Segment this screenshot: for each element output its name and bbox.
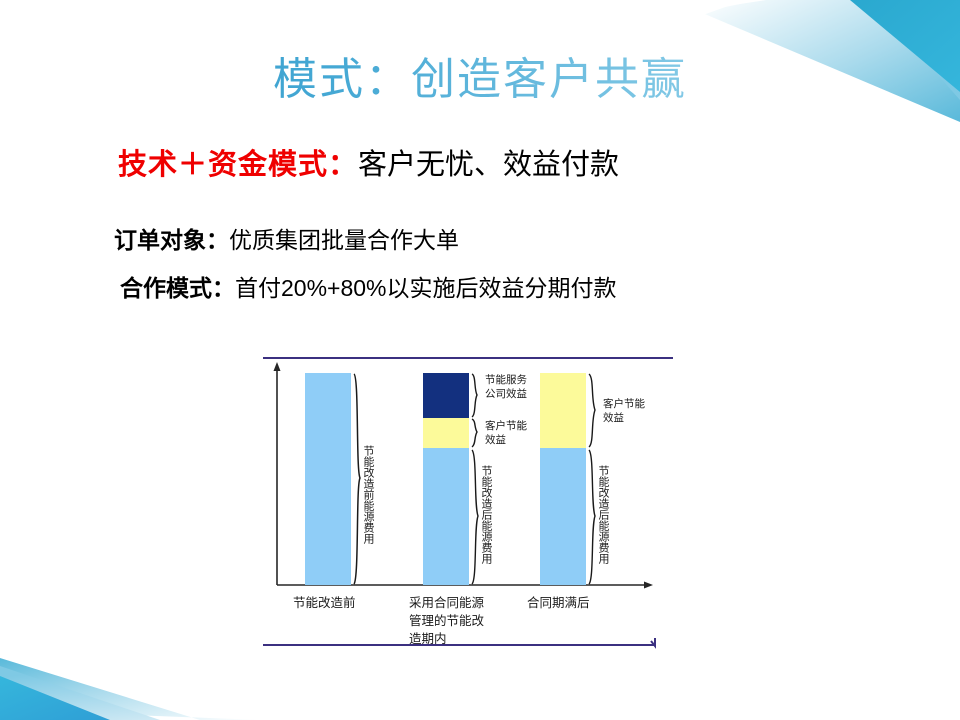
bullet-label: 合作模式： (120, 275, 235, 301)
brace-label-energy-cost-after-2: 节能改造后能源费用 (480, 465, 493, 565)
brace-energy-cost-after-3 (589, 450, 595, 584)
bar-segment-customer-saving-2 (423, 418, 469, 448)
headline-emphasis: 技术＋资金模式： (118, 149, 358, 181)
brace-label-customer-saving-2a: 客户节能 (485, 419, 527, 432)
bullet-value: 首付20%+80%以实施后效益分期付款 (235, 275, 617, 301)
bar-segment-esco-profit (423, 373, 469, 418)
slide-canvas: 模式：创造客户共赢 技术＋资金模式：客户无忧、效益付款 订单对象：优质集团批量合… (0, 0, 960, 720)
brace-label-energy-cost-after-3: 节能改造后能源费用 (597, 465, 610, 565)
bullet-line-order-object: 订单对象：优质集团批量合作大单 (114, 224, 459, 256)
headline: 技术＋资金模式：客户无忧、效益付款 (118, 145, 619, 185)
brace-esco-profit (472, 374, 477, 417)
bullet-line-cooperation-mode: 合作模式：首付20%+80%以实施后效益分期付款 (120, 272, 617, 304)
brace-energy-cost-after-2 (472, 450, 478, 584)
diagonal-ribbon-bottom-left-icon (0, 570, 260, 720)
brace-label-customer-saving-3b: 效益 (603, 411, 624, 424)
bar-segment-customer-saving-3 (540, 373, 586, 448)
brace-label-customer-saving-2b: 效益 (485, 433, 506, 446)
x-tick-label-1: 节能改造前 (293, 595, 356, 610)
x-axis-arrow-icon (644, 582, 653, 589)
brace-label-esco-profit-1: 节能服务 (485, 373, 527, 386)
x-tick-label-2-line1: 采用合同能源 (409, 595, 485, 610)
bar-group-2: 节能服务 公司效益 客户节能 效益 节能改造后能源费用 (423, 373, 527, 585)
x-tick-label-2-line3: 造期内 (409, 632, 447, 646)
brace-label-bar1: 节能改造前能源费用 (362, 445, 375, 545)
bullet-value: 优质集团批量合作大单 (229, 227, 459, 253)
bar-group-1: 节能改造前能源费用 (305, 373, 375, 585)
y-axis-arrow-icon (274, 362, 281, 371)
brace-bar1 (354, 374, 360, 584)
bullet-label: 订单对象： (114, 227, 229, 253)
brace-customer-saving-2 (472, 419, 477, 447)
brace-customer-saving-3 (589, 374, 595, 447)
x-tick-label-2-line2: 管理的节能改 (409, 613, 485, 628)
brace-label-esco-profit-2: 公司效益 (485, 387, 527, 400)
brace-label-customer-saving-3a: 客户节能 (603, 397, 645, 410)
energy-saving-bar-chart: 节能改造前能源费用 节能服务 公司效益 客户节能 效益 节能改造后能源费用 (255, 345, 675, 655)
page-title: 模式：创造客户共赢 (0, 52, 960, 108)
headline-rest: 客户无忧、效益付款 (358, 149, 619, 181)
bar-group-3: 客户节能 效益 节能改造后能源费用 (540, 373, 645, 585)
bar-segment-energy-cost-after-2 (423, 448, 469, 585)
bar-segment-energy-cost-after-3 (540, 448, 586, 585)
x-tick-label-3: 合同期满后 (527, 595, 590, 610)
chart-svg: 节能改造前能源费用 节能服务 公司效益 客户节能 效益 节能改造后能源费用 (255, 345, 675, 655)
bar-segment-energy-cost-before (305, 373, 351, 585)
